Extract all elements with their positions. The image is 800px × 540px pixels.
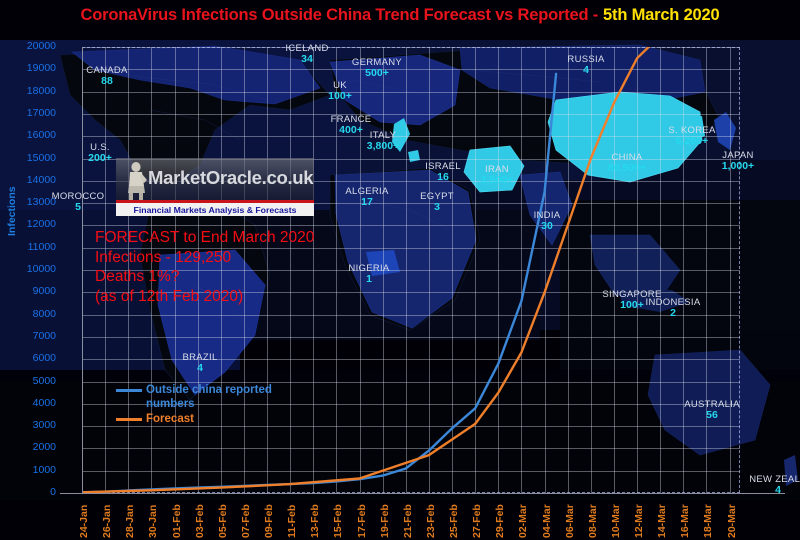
x-tick-19-Feb: 19-Feb — [379, 504, 391, 538]
country-case-count: 17 — [327, 197, 407, 208]
country-case-count: 4 — [546, 65, 626, 76]
country-label-italy: ITALY3,800+ — [343, 131, 423, 152]
watermark: MarketOracle.co.uk Financial Markets Ana… — [116, 158, 314, 214]
x-tick-09-Feb: 09-Feb — [263, 504, 275, 538]
x-tick-23-Feb: 23-Feb — [425, 504, 437, 538]
y-tick-8000: 8000 — [0, 308, 56, 320]
chart-title-date: 5th March 2020 — [603, 6, 719, 25]
chart-legend: Outside china reported numbers Forecast — [116, 383, 301, 427]
x-axis-line — [60, 493, 785, 494]
y-tick-14000: 14000 — [0, 174, 56, 186]
x-tick-16-Mar: 16-Mar — [679, 504, 691, 538]
x-tick-02-Mar: 02-Mar — [517, 504, 529, 538]
x-tick-01-Feb: 01-Feb — [171, 504, 183, 538]
forecast-line-1: FORECAST to End March 2020 — [95, 228, 314, 248]
watermark-brand: MarketOracle.co.uk — [148, 167, 313, 189]
y-tick-5000: 5000 — [0, 375, 56, 387]
y-tick-0: 0 — [0, 486, 56, 498]
y-tick-13000: 13000 — [0, 196, 56, 208]
country-case-count: 3 — [397, 202, 477, 213]
country-case-count: 88 — [67, 76, 147, 87]
y-tick-2000: 2000 — [0, 441, 56, 453]
x-tick-05-Feb: 05-Feb — [217, 504, 229, 538]
x-tick-26-Jan: 26-Jan — [101, 505, 113, 538]
country-case-count: 4 — [160, 363, 240, 374]
country-name: NEW ZEALA — [738, 475, 800, 485]
country-label-algeria: ALGERIA17 — [327, 187, 407, 208]
forecast-line-2: Infections - 129,250 — [95, 248, 314, 268]
country-case-count: 80,500+ — [587, 163, 667, 174]
x-tick-18-Mar: 18-Mar — [702, 504, 714, 538]
legend-label-reported: Outside china reported numbers — [146, 383, 301, 411]
country-label-germany: GERMANY500+ — [337, 58, 417, 79]
y-tick-18000: 18000 — [0, 85, 56, 97]
country-case-count: 3,500+ — [457, 175, 537, 186]
country-label-china: CHINA80,500+ — [587, 153, 667, 174]
y-tick-20000: 20000 — [0, 40, 56, 52]
y-tick-15000: 15000 — [0, 152, 56, 164]
y-tick-12000: 12000 — [0, 218, 56, 230]
x-tick-17-Feb: 17-Feb — [356, 504, 368, 538]
x-tick-20-Mar: 20-Mar — [726, 504, 738, 538]
country-case-count: 30 — [507, 221, 587, 232]
country-case-count: 4 — [738, 485, 800, 496]
country-case-count: 100+ — [300, 91, 380, 102]
y-tick-3000: 3000 — [0, 419, 56, 431]
country-case-count: 2 — [633, 308, 713, 319]
chart-title: CoronaVirus Infections Outside China Tre… — [0, 0, 800, 30]
x-tick-21-Feb: 21-Feb — [402, 504, 414, 538]
y-tick-7000: 7000 — [0, 330, 56, 342]
country-case-count: 34 — [267, 54, 347, 65]
y-tick-11000: 11000 — [0, 241, 56, 253]
x-tick-12-Mar: 12-Mar — [633, 504, 645, 538]
x-tick-06-Mar: 06-Mar — [564, 504, 576, 538]
legend-item-reported: Outside china reported numbers — [116, 383, 301, 411]
x-tick-30-Jan: 30-Jan — [147, 505, 159, 538]
legend-swatch-forecast — [116, 418, 142, 421]
seated-thinker-icon — [120, 160, 150, 202]
x-tick-25-Feb: 25-Feb — [448, 504, 460, 538]
country-label-indonesia: INDONESIA2 — [633, 298, 713, 319]
y-tick-16000: 16000 — [0, 129, 56, 141]
country-label-brazil: BRAZIL4 — [160, 353, 240, 374]
watermark-tagline: Financial Markets Analysis & Forecasts — [116, 203, 314, 216]
country-label-egypt: EGYPT3 — [397, 192, 477, 213]
country-label-nigeria: NIGERIA1 — [329, 264, 409, 285]
country-case-count: 6,200+ — [652, 136, 732, 147]
x-tick-11-Feb: 11-Feb — [286, 505, 298, 538]
forecast-annotation: FORECAST to End March 2020 Infections - … — [95, 228, 314, 306]
y-axis-line — [82, 47, 83, 493]
country-label-uk: UK100+ — [300, 81, 380, 102]
legend-swatch-reported — [116, 389, 142, 392]
y-tick-4000: 4000 — [0, 397, 56, 409]
forecast-line-4: (as of 12th Feb 2020) — [95, 287, 314, 307]
x-tick-13-Feb: 13-Feb — [309, 504, 321, 538]
country-label-japan: JAPAN1,000+ — [698, 151, 778, 172]
country-label-iran: IRAN3,500+ — [457, 165, 537, 186]
y-tick-19000: 19000 — [0, 62, 56, 74]
x-tick-08-Mar: 08-Mar — [587, 504, 599, 538]
country-label-australia: AUSTRALIA56 — [672, 400, 752, 421]
x-tick-03-Feb: 03-Feb — [194, 504, 206, 538]
forecast-line-3: Deaths 1%? — [95, 267, 314, 287]
x-tick-28-Jan: 28-Jan — [124, 505, 136, 538]
x-tick-14-Mar: 14-Mar — [656, 504, 668, 538]
y-tick-1000: 1000 — [0, 464, 56, 476]
country-case-count: 1,000+ — [698, 161, 778, 172]
y-tick-17000: 17000 — [0, 107, 56, 119]
country-case-count: 1 — [329, 274, 409, 285]
x-tick-15-Feb: 15-Feb — [332, 504, 344, 538]
y-tick-6000: 6000 — [0, 352, 56, 364]
y-tick-10000: 10000 — [0, 263, 56, 275]
country-label-russia: RUSSIA4 — [546, 55, 626, 76]
legend-item-forecast: Forecast — [116, 412, 301, 426]
y-tick-9000: 9000 — [0, 285, 56, 297]
x-tick-27-Feb: 27-Feb — [471, 504, 483, 538]
country-label-india: INDIA30 — [507, 211, 587, 232]
x-tick-24-Jan: 24-Jan — [78, 505, 90, 538]
x-tick-29-Feb: 29-Feb — [494, 504, 506, 538]
x-tick-10-Mar: 10-Mar — [610, 504, 622, 538]
country-label-s-korea: S. KOREA6,200+ — [652, 126, 732, 147]
country-label-canada: CANADA88 — [67, 66, 147, 87]
country-label-iceland: ICELAND34 — [267, 44, 347, 65]
x-tick-04-Mar: 04-Mar — [541, 504, 553, 538]
legend-label-forecast: Forecast — [146, 412, 194, 426]
chart-root: CoronaVirus Infections Outside China Tre… — [0, 0, 800, 540]
x-tick-07-Feb: 07-Feb — [240, 504, 252, 538]
chart-title-main: CoronaVirus Infections Outside China Tre… — [81, 6, 599, 25]
country-case-count: 3,800+ — [343, 141, 423, 152]
country-case-count: 56 — [672, 410, 752, 421]
country-case-count: 500+ — [337, 68, 417, 79]
